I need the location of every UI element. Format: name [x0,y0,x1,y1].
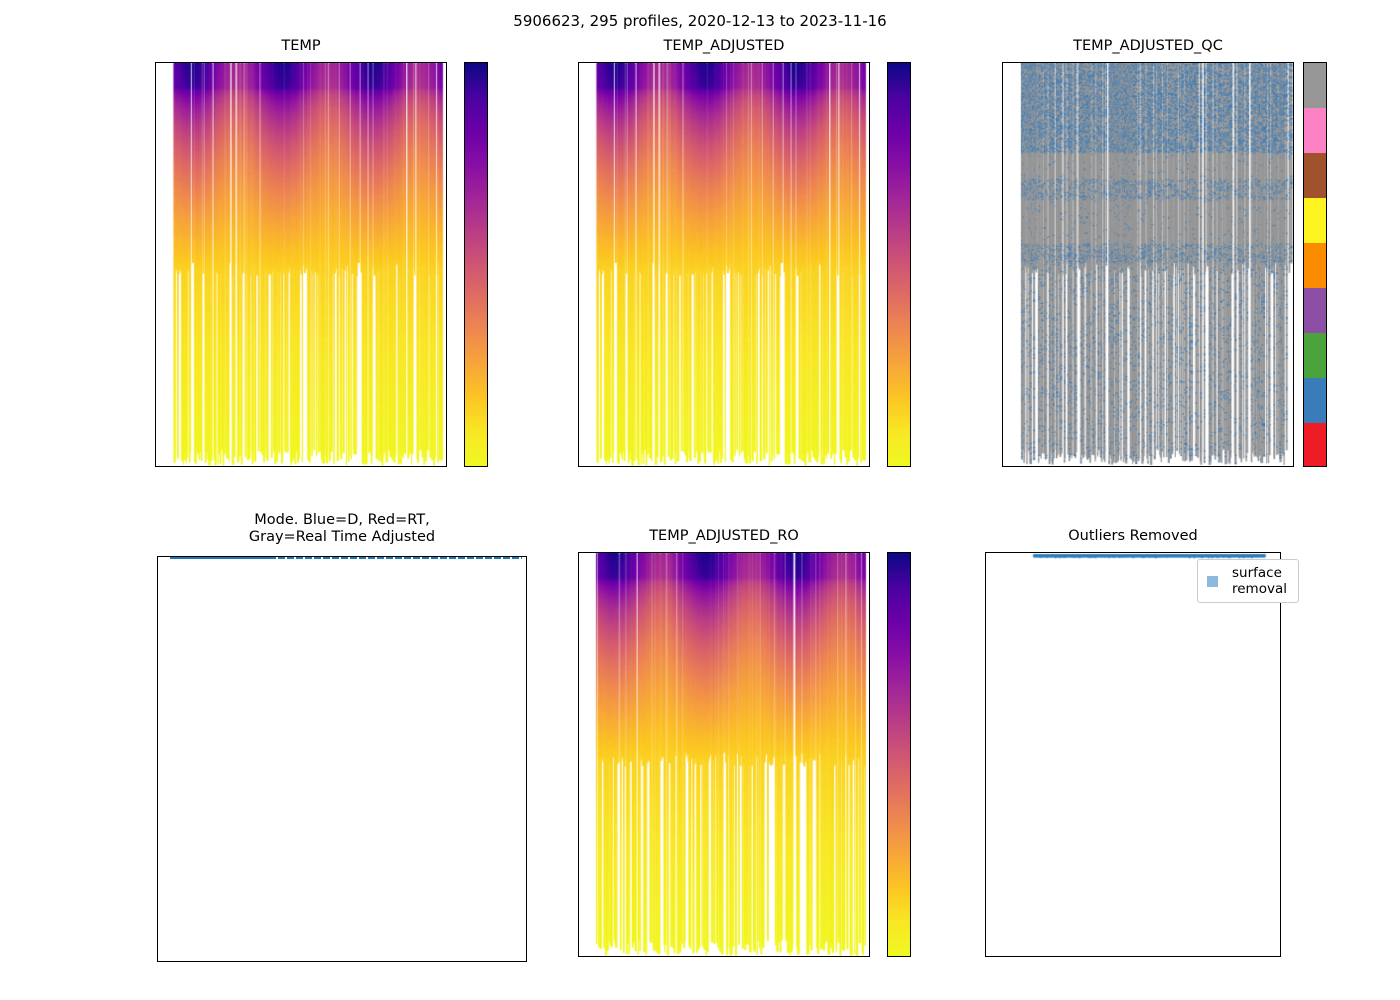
y-tick-mark [985,552,986,553]
y-tick-mark [1002,426,1003,427]
panel-qc-colorbar[interactable]: 012345678 [1303,62,1327,467]
panel-temp-adjusted-plot [579,63,869,466]
qc-colorbar-segment-4 [1304,243,1326,288]
qc-colorbar-segment-8 [1304,63,1326,108]
y-tick-mark [578,270,579,271]
colorbar-tick-mark [910,752,911,753]
colorbar-tick-mark [910,124,911,125]
qc-colorbar-tick-mark [1326,164,1327,165]
x-tick-mark [175,961,176,962]
y-tick-mark [578,656,579,657]
y-tick-mark [157,759,158,760]
x-tick-mark [178,466,179,467]
qc-colorbar-segment-3 [1304,288,1326,333]
y-tick-mark [578,812,579,813]
figure-suptitle: 5906623, 295 profiles, 2020-12-13 to 202… [0,12,1400,30]
mode-delayed-line-solid [170,556,276,559]
colorbar-tick-mark [487,193,488,194]
x-tick-mark [784,466,785,467]
x-tick-mark [270,466,271,467]
y-tick-mark [578,322,579,323]
figure-canvas: 5906623, 295 profiles, 2020-12-13 to 202… [0,0,1400,1000]
colorbar-tick-mark [910,330,911,331]
y-tick-mark [578,166,579,167]
panel-temp-colorbar[interactable]: 4681012 [464,62,488,467]
y-tick-mark [155,62,156,63]
x-tick-mark [693,466,694,467]
y-tick-mark [985,812,986,813]
x-tick-mark [1116,956,1117,957]
y-tick-mark [155,374,156,375]
y-tick-mark [985,864,986,865]
qc-colorbar-tick-mark [1326,113,1327,114]
x-tick-mark [474,961,475,962]
x-tick-mark [224,466,225,467]
x-tick-mark [1253,466,1254,467]
panel-temp-adjusted-qc-plot [1003,63,1293,466]
panel-outliers-removed-title: Outliers Removed [985,528,1281,545]
y-tick-mark [578,604,579,605]
y-tick-mark [985,708,986,709]
x-tick-mark [601,956,602,957]
colorbar-tick-mark [910,399,911,400]
y-tick-mark [1002,218,1003,219]
y-tick-mark [1002,374,1003,375]
colorbar-tick-mark [487,262,488,263]
x-tick-mark [693,956,694,957]
panel-temp-adjusted-title: TEMP_ADJUSTED [578,38,870,55]
x-tick-mark [601,466,602,467]
panel-temp-adjusted-qc-axes[interactable]: 2021.02021.52022.02022.52023.02023.50250… [1002,62,1294,467]
y-tick-mark [1002,270,1003,271]
y-tick-mark [155,114,156,115]
colorbar-tick-mark [910,262,911,263]
y-tick-mark [1002,62,1003,63]
x-tick-mark [829,956,830,957]
x-tick-mark [784,956,785,957]
qc-colorbar-segment-5 [1304,198,1326,243]
x-tick-mark [1195,956,1196,957]
panel-temp-adjusted-axes[interactable]: 2021.02021.52022.02022.52023.02023.50250… [578,62,870,467]
x-tick-mark [738,956,739,957]
panel-temp-plot [156,63,446,466]
y-tick-mark [157,556,158,557]
panel-temp-colorbar-gradient [465,63,487,466]
x-tick-mark [1162,466,1163,467]
y-tick-mark [985,656,986,657]
x-tick-mark [997,956,998,957]
x-tick-mark [315,466,316,467]
y-tick-mark [1002,322,1003,323]
qc-colorbar-tick-mark [1326,316,1327,317]
y-tick-mark [155,218,156,219]
colorbar-tick-mark [487,399,488,400]
panel-outliers-removed-axes[interactable]: 2020.52021.02021.52022.02022.52023.02023… [985,552,1281,957]
colorbar-tick-mark [487,124,488,125]
y-tick-mark [578,916,579,917]
x-tick-mark [1071,466,1072,467]
qc-colorbar-segment-7 [1304,108,1326,153]
x-tick-mark [1117,466,1118,467]
panel-temp-adjusted-ro-title: TEMP_ADJUSTED_RO [578,528,870,545]
colorbar-tick-mark [910,683,911,684]
x-tick-mark [647,956,648,957]
y-tick-mark [155,426,156,427]
colorbar-tick-mark [910,614,911,615]
qc-colorbar-tick-mark [1326,265,1327,266]
x-tick-mark [354,961,355,962]
x-tick-mark [1208,466,1209,467]
panel-temp-adjusted-colorbar[interactable]: 4681012 [887,62,911,467]
qc-colorbar-segment-2 [1304,333,1326,378]
y-tick-mark [985,760,986,761]
y-tick-mark [1002,114,1003,115]
x-tick-mark [1076,956,1077,957]
surface-removal-legend-label: surface removal [1232,565,1287,597]
colorbar-tick-mark [487,330,488,331]
panel-outliers-removed-plot [986,553,1280,956]
y-tick-mark [155,270,156,271]
x-tick-mark [406,466,407,467]
outliers-legend[interactable]: surface removal [1197,559,1299,603]
surface-removal-legend-swatch [1207,576,1218,587]
y-tick-mark [985,916,986,917]
panel-temp-adjusted-ro-axes[interactable]: 2021.02021.52022.02022.52023.02023.50250… [578,552,870,957]
panel-temp-adjusted-qc-title: TEMP_ADJUSTED_QC [1002,38,1294,55]
y-tick-mark [578,374,579,375]
x-tick-mark [1155,956,1156,957]
qc-colorbar-segment-6 [1304,153,1326,198]
qc-colorbar-tick-mark [1326,214,1327,215]
panel-temp-adjusted-colorbar-gradient [888,63,910,466]
x-tick-mark [235,961,236,962]
x-tick-mark [1037,956,1038,957]
panel-temp-axes[interactable]: 2021.02021.52022.02022.52023.02023.50250… [155,62,447,467]
panel-temp-adjusted-ro-colorbar-gradient [888,553,910,956]
qc-colorbar-segment-1 [1304,378,1326,423]
colorbar-tick-mark [910,820,911,821]
y-tick-mark [578,114,579,115]
panel-temp-adjusted-ro-colorbar[interactable]: 4681012 [887,552,911,957]
y-tick-mark [578,218,579,219]
x-tick-mark [361,466,362,467]
qc-colorbar-tick-mark [1326,366,1327,367]
qc-colorbar-segment-0 [1304,423,1326,467]
x-tick-mark [1025,466,1026,467]
panel-temp-adjusted-ro-plot [579,553,869,956]
x-tick-mark [1274,956,1275,957]
colorbar-tick-mark [910,889,911,890]
x-tick-mark [295,961,296,962]
x-tick-mark [1234,956,1235,957]
panel-mode-title: Mode. Blue=D, Red=RT, Gray=Real Time Adj… [157,512,527,545]
y-tick-mark [578,426,579,427]
y-tick-mark [578,864,579,865]
panel-temp-title: TEMP [155,38,447,55]
y-tick-mark [578,760,579,761]
y-tick-mark [578,62,579,63]
x-tick-mark [647,466,648,467]
y-tick-mark [1002,166,1003,167]
colorbar-tick-mark [910,193,911,194]
y-tick-mark [985,604,986,605]
y-tick-mark [578,708,579,709]
qc-colorbar-tick-mark [1326,62,1327,63]
x-tick-mark [738,466,739,467]
x-tick-mark [829,466,830,467]
y-tick-mark [155,322,156,323]
x-tick-mark [414,961,415,962]
panel-mode-axes[interactable]: 2021.02021.52022.02022.52023.02023.5Dela… [157,556,527,962]
y-tick-mark [578,552,579,553]
y-tick-mark [155,166,156,167]
qc-colorbar-tick-mark [1326,417,1327,418]
